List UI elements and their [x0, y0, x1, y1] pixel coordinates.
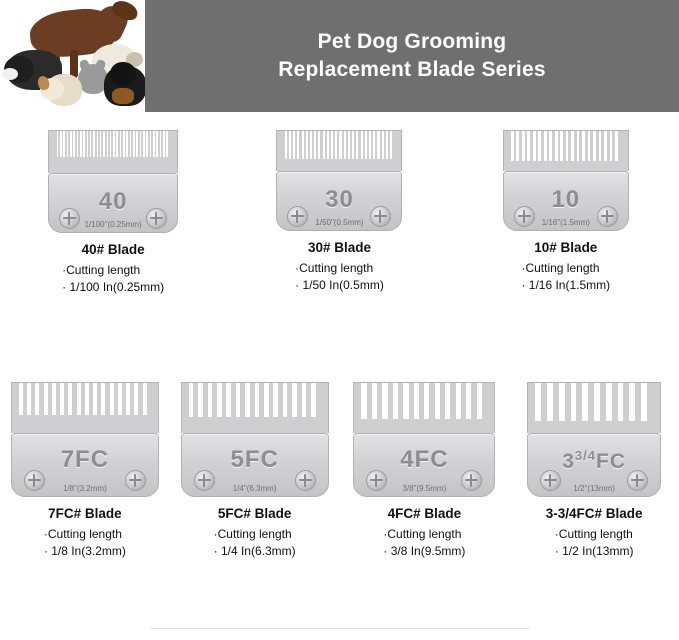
blade-tooth — [393, 383, 398, 419]
blade-tooth — [522, 131, 525, 161]
blade-tooth — [143, 131, 145, 157]
blade-tooth — [311, 383, 316, 417]
blade-card-30: 30 1/50"(0.5mm) 30# Blade ·Cutting lengt… — [254, 130, 424, 297]
blade-tooth — [136, 131, 138, 157]
blade-tooth — [226, 383, 231, 417]
blade-tooth — [113, 131, 115, 157]
blade-tooth — [535, 383, 541, 421]
blade-teeth-area — [48, 130, 178, 173]
rottweiler-head-shape — [110, 62, 136, 86]
blade-body: 4FC 3/8"(9.5mm) — [353, 433, 495, 497]
blade-tooth — [477, 383, 482, 419]
blade-image-4fc: 4FC 3/8"(9.5mm) — [353, 382, 495, 497]
blade-tooth — [610, 131, 613, 161]
page-title-line2: Replacement Blade Series — [278, 56, 545, 84]
blade-tooth — [571, 131, 574, 161]
blade-tooth — [365, 131, 367, 159]
blade-tooth — [283, 383, 288, 417]
blade-tooth — [63, 131, 65, 157]
blade-tooth — [348, 131, 350, 159]
blade-spec-value: · 1/16 In(1.5mm) — [521, 277, 610, 294]
blade-tooth — [292, 383, 297, 417]
blade-tooth — [101, 383, 105, 415]
blade-spec-label: ·Cutting length — [383, 526, 465, 543]
blade-tooth — [547, 383, 553, 421]
blade-tooth — [73, 131, 75, 157]
blade-tooth — [382, 383, 387, 419]
blade-image-40: 40 1/100"(0.25mm) — [48, 130, 178, 233]
blade-spec-label: ·Cutting length — [62, 262, 164, 279]
blade-tooth — [97, 131, 99, 157]
blade-tooth — [314, 131, 316, 159]
blade-teeth-area — [527, 382, 661, 433]
blade-face-spec: 1/2"(13mm) — [528, 484, 660, 493]
blade-tooth — [424, 383, 429, 419]
blade-tooth — [285, 131, 287, 159]
blade-tooth — [445, 383, 450, 419]
blade-tooth — [153, 131, 155, 157]
blade-tooth — [166, 131, 168, 157]
blade-tooth — [533, 131, 536, 161]
blade-tooth — [87, 131, 89, 157]
header-banner: Pet Dog Grooming Replacement Blade Serie… — [145, 0, 679, 112]
blade-tooth — [118, 383, 122, 415]
blade-name-3-3-4fc: 3-3/4FC# Blade — [546, 506, 643, 521]
blade-tooth — [582, 131, 585, 161]
blade-tooth — [52, 383, 56, 415]
blade-spec-list-5fc: ·Cutting length · 1/4 In(6.3mm) — [214, 526, 296, 561]
blade-spec-value: · 1/50 In(0.5mm) — [295, 277, 384, 294]
blade-tooth — [588, 131, 591, 161]
blade-tooth — [80, 131, 82, 157]
blade-tooth — [310, 131, 312, 159]
blade-tooth — [466, 383, 471, 419]
page-title-line1: Pet Dog Grooming — [278, 28, 545, 56]
blade-tooth — [100, 131, 102, 157]
border-collie-snout-shape — [2, 68, 18, 80]
blade-tooth — [361, 383, 366, 419]
blade-tooth — [549, 131, 552, 161]
blade-tooth — [93, 131, 95, 157]
blade-tooth — [373, 131, 375, 159]
blade-spec-value: · 1/100 In(0.25mm) — [62, 279, 164, 296]
blade-tooth — [150, 131, 152, 157]
blade-tooth — [27, 383, 31, 415]
blade-teeth-area — [503, 130, 629, 171]
blade-teeth-area — [181, 382, 329, 433]
blade-spec-label: ·Cutting length — [214, 526, 296, 543]
blade-tooth — [599, 131, 602, 161]
blade-card-5fc: 5FC 1/4"(6.3mm) 5FC# Blade ·Cutting leng… — [175, 382, 335, 561]
blade-spec-list-10: ·Cutting length · 1/16 In(1.5mm) — [521, 260, 610, 295]
blade-tooth — [615, 131, 618, 161]
blade-tooth — [120, 131, 122, 157]
blade-face-spec: 1/50"(0.5mm) — [277, 218, 401, 227]
blade-tooth — [245, 383, 250, 417]
blade-tooth — [335, 131, 337, 159]
blade-tooth — [511, 131, 514, 161]
blade-tooth — [369, 131, 371, 159]
blade-tooth — [198, 383, 203, 417]
blade-teeth — [189, 383, 321, 417]
blade-tooth — [264, 383, 269, 417]
blade-tooth — [116, 131, 118, 157]
blade-tooth — [372, 383, 377, 419]
blade-name-5fc: 5FC# Blade — [218, 506, 292, 521]
blade-image-3-3-4fc: 33/4FC 1/2"(13mm) — [527, 382, 661, 497]
blade-tooth — [208, 383, 213, 417]
blade-tooth — [273, 383, 278, 417]
blade-teeth — [56, 131, 170, 157]
blade-name-40: 40# Blade — [82, 242, 145, 257]
blade-spec-label: ·Cutting length — [295, 260, 384, 277]
blade-tooth — [60, 383, 64, 415]
blade-tooth — [390, 131, 392, 159]
blade-body: 30 1/50"(0.5mm) — [276, 171, 402, 231]
blade-tooth — [361, 131, 363, 159]
blade-tooth — [339, 131, 341, 159]
blade-name-10: 10# Blade — [534, 240, 597, 255]
blade-tooth — [318, 131, 320, 159]
blade-tooth — [618, 383, 624, 421]
blade-tooth — [103, 131, 105, 157]
blade-tooth — [606, 383, 612, 421]
blade-tooth — [57, 131, 59, 157]
blade-tooth — [641, 383, 647, 421]
blade-spec-list-3-3-4fc: ·Cutting length · 1/2 In(13mm) — [555, 526, 634, 561]
blade-teeth — [535, 383, 653, 421]
blade-tooth — [555, 131, 558, 161]
blade-tooth — [123, 131, 125, 157]
blade-tooth — [140, 131, 142, 157]
blade-tooth — [386, 131, 388, 159]
blade-face-spec: 3/8"(9.5mm) — [354, 484, 494, 493]
blade-teeth — [361, 383, 487, 419]
blade-tooth — [594, 383, 600, 421]
blade-image-30: 30 1/50"(0.5mm) — [276, 130, 402, 231]
blade-tooth — [527, 131, 530, 161]
blade-row-top: 40 1/100"(0.25mm) 40# Blade ·Cutting len… — [0, 130, 679, 297]
blade-tooth — [60, 131, 62, 157]
blade-tooth — [331, 131, 333, 159]
blade-tooth — [126, 131, 128, 157]
blade-tooth — [344, 131, 346, 159]
blade-tooth — [85, 383, 89, 415]
blade-image-7fc: 7FC 1/8"(3.2mm) — [11, 382, 159, 497]
horse-leg-shape — [70, 50, 78, 78]
blade-row-bottom: 7FC 1/8"(3.2mm) 7FC# Blade ·Cutting leng… — [0, 382, 679, 561]
blade-tooth — [297, 131, 299, 159]
blade-tooth — [323, 131, 325, 159]
blade-name-7fc: 7FC# Blade — [48, 506, 122, 521]
blade-tooth — [19, 383, 23, 415]
blade-tooth — [130, 131, 132, 157]
blade-spec-value: · 3/8 In(9.5mm) — [383, 543, 465, 560]
blade-tooth — [93, 383, 97, 415]
blade-tooth — [403, 383, 408, 419]
blade-tooth — [435, 383, 440, 419]
blade-tooth — [126, 383, 130, 415]
blade-spec-list-30: ·Cutting length · 1/50 In(0.5mm) — [295, 260, 384, 295]
blade-body: 33/4FC 1/2"(13mm) — [527, 433, 661, 497]
blade-tooth — [44, 383, 48, 415]
blade-tooth — [293, 131, 295, 159]
blade-tooth — [133, 131, 135, 157]
blade-tooth — [560, 131, 563, 161]
blade-tooth — [582, 383, 588, 421]
blade-spec-value: · 1/8 In(3.2mm) — [44, 543, 126, 560]
blade-teeth-area — [276, 130, 402, 171]
blade-tooth — [289, 131, 291, 159]
blade-body: 7FC 1/8"(3.2mm) — [11, 433, 159, 497]
blade-spec-value: · 1/4 In(6.3mm) — [214, 543, 296, 560]
blade-spec-label: ·Cutting length — [555, 526, 634, 543]
blade-name-4fc: 4FC# Blade — [388, 506, 462, 521]
blade-spec-label: ·Cutting length — [44, 526, 126, 543]
blade-tooth — [306, 131, 308, 159]
blade-tooth — [67, 131, 69, 157]
blade-face-spec: 1/8"(3.2mm) — [12, 484, 158, 493]
blade-tooth — [414, 383, 419, 419]
blade-tooth — [90, 131, 92, 157]
blade-card-40: 40 1/100"(0.25mm) 40# Blade ·Cutting len… — [28, 130, 198, 297]
blade-spec-list-4fc: ·Cutting length · 3/8 In(9.5mm) — [383, 526, 465, 561]
blade-name-30: 30# Blade — [308, 240, 371, 255]
blade-tooth — [516, 131, 519, 161]
blade-tooth — [70, 131, 72, 157]
pet-collage-photo — [0, 0, 145, 112]
blade-tooth — [571, 383, 577, 421]
page-title: Pet Dog Grooming Replacement Blade Serie… — [278, 28, 545, 83]
blade-tooth — [160, 131, 162, 157]
blade-tooth — [156, 131, 158, 157]
blade-tooth — [302, 131, 304, 159]
blade-spec-list-7fc: ·Cutting length · 1/8 In(3.2mm) — [44, 526, 126, 561]
blade-teeth-area — [11, 382, 159, 433]
blade-teeth-area — [353, 382, 495, 433]
blade-tooth — [604, 131, 607, 161]
blade-tooth — [83, 131, 85, 157]
blade-teeth — [284, 131, 394, 159]
rottweiler-marking-shape — [112, 88, 134, 104]
blade-tooth — [134, 383, 138, 415]
blade-tooth — [77, 383, 81, 415]
blade-image-5fc: 5FC 1/4"(6.3mm) — [181, 382, 329, 497]
blade-tooth — [456, 383, 461, 419]
blade-tooth — [143, 383, 147, 415]
blade-card-7fc: 7FC 1/8"(3.2mm) 7FC# Blade ·Cutting leng… — [5, 382, 165, 561]
blade-body: 5FC 1/4"(6.3mm) — [181, 433, 329, 497]
blade-tooth — [110, 383, 114, 415]
blade-body: 40 1/100"(0.25mm) — [48, 173, 178, 233]
blade-tooth — [544, 131, 547, 161]
blade-tooth — [593, 131, 596, 161]
bottom-divider — [150, 628, 530, 629]
blade-tooth — [107, 131, 109, 157]
blade-face-spec: 1/4"(6.3mm) — [182, 484, 328, 493]
page-header: Pet Dog Grooming Replacement Blade Serie… — [0, 0, 679, 112]
blade-tooth — [302, 383, 307, 417]
blade-image-10: 10 1/16"(1.5mm) — [503, 130, 629, 231]
blade-tooth — [189, 383, 194, 417]
blade-tooth — [629, 383, 635, 421]
blade-tooth — [146, 131, 148, 157]
blade-tooth — [377, 131, 379, 159]
blade-teeth — [511, 131, 621, 161]
blade-tooth — [559, 383, 565, 421]
blade-card-10: 10 1/16"(1.5mm) 10# Blade ·Cutting lengt… — [481, 130, 651, 297]
blade-spec-list-40: ·Cutting length · 1/100 In(0.25mm) — [62, 262, 164, 297]
blade-spec-label: ·Cutting length — [521, 260, 610, 277]
blade-face-spec: 1/100"(0.25mm) — [49, 220, 177, 229]
blade-spec-value: · 1/2 In(13mm) — [555, 543, 634, 560]
blade-tooth — [35, 383, 39, 415]
blade-tooth — [327, 131, 329, 159]
blade-tooth — [566, 131, 569, 161]
blade-tooth — [217, 383, 222, 417]
blade-card-4fc: 4FC 3/8"(9.5mm) 4FC# Blade ·Cutting leng… — [344, 382, 504, 561]
blade-tooth — [577, 131, 580, 161]
blade-tooth — [382, 131, 384, 159]
blade-tooth — [163, 131, 165, 157]
blade-tooth — [255, 383, 260, 417]
blade-teeth — [19, 383, 151, 415]
blade-card-3-3-4fc: 33/4FC 1/2"(13mm) 3-3/4FC# Blade ·Cuttin… — [514, 382, 674, 561]
blade-tooth — [236, 383, 241, 417]
blade-body: 10 1/16"(1.5mm) — [503, 171, 629, 231]
blade-tooth — [110, 131, 112, 157]
blade-tooth — [538, 131, 541, 161]
blade-tooth — [352, 131, 354, 159]
blade-tooth — [356, 131, 358, 159]
blade-tooth — [68, 383, 72, 415]
blade-face-spec: 1/16"(1.5mm) — [504, 218, 628, 227]
blade-tooth — [77, 131, 79, 157]
